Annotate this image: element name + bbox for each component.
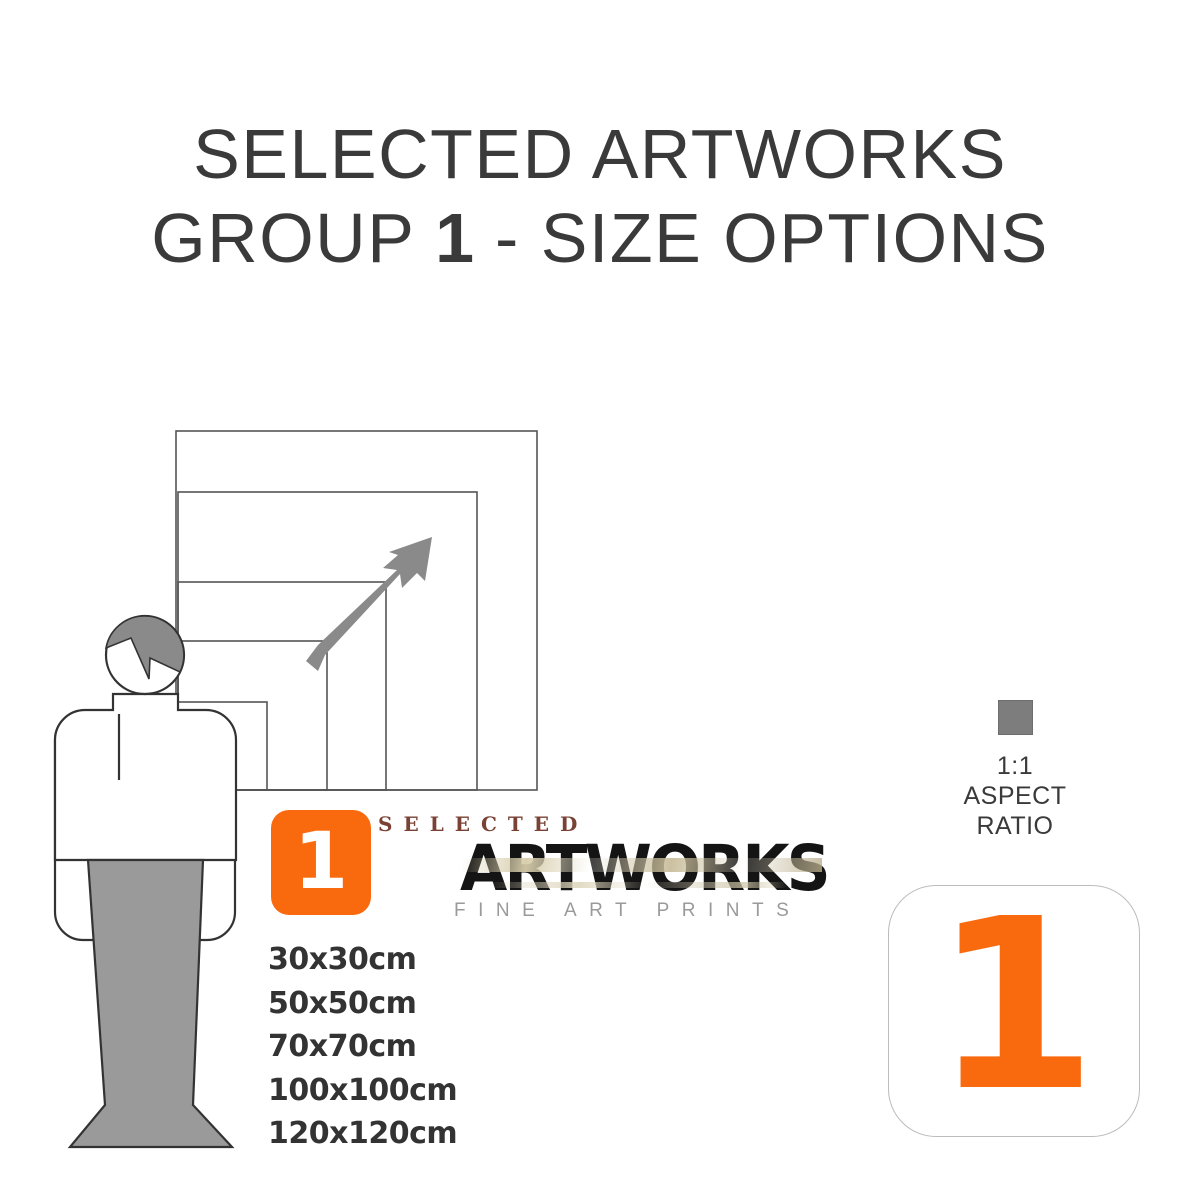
person-scale-figure bbox=[55, 616, 236, 1147]
size-option-item: 120x120cm bbox=[268, 1112, 598, 1156]
aspect-ratio-value: 1:1 bbox=[920, 751, 1110, 781]
size-option-item: 30x30cm bbox=[268, 938, 598, 982]
badge-square: 1 bbox=[271, 810, 371, 915]
size-option-item: 50x50cm bbox=[268, 982, 598, 1026]
group-number-badge: 1 bbox=[271, 810, 371, 915]
brand-logo: SELECTED ARTWORKS FINE ART PRINTS bbox=[378, 812, 828, 927]
brand-artworks-text: ARTWORKS bbox=[460, 832, 828, 905]
group-number-card-digit: 1 bbox=[889, 880, 1141, 1132]
aspect-ratio-label-line2: RATIO bbox=[920, 811, 1110, 841]
growth-arrow-icon bbox=[306, 537, 432, 671]
badge-number-label: 1 bbox=[271, 810, 371, 915]
brand-tagline-text: FINE ART PRINTS bbox=[454, 900, 801, 922]
person-torso bbox=[55, 694, 236, 860]
size-option-item: 100x100cm bbox=[268, 1069, 598, 1113]
size-options-list: 30x30cm 50x50cm 70x70cm 100x100cm 120x12… bbox=[268, 938, 598, 1156]
group-number-card: 1 bbox=[888, 885, 1140, 1137]
aspect-ratio-block: 1:1 ASPECT RATIO bbox=[920, 700, 1110, 841]
brand-grunge-overlay-secondary bbox=[488, 882, 788, 888]
aspect-ratio-label-line1: ASPECT bbox=[920, 781, 1110, 811]
aspect-ratio-swatch-icon bbox=[998, 700, 1033, 735]
size-option-item: 70x70cm bbox=[268, 1025, 598, 1069]
